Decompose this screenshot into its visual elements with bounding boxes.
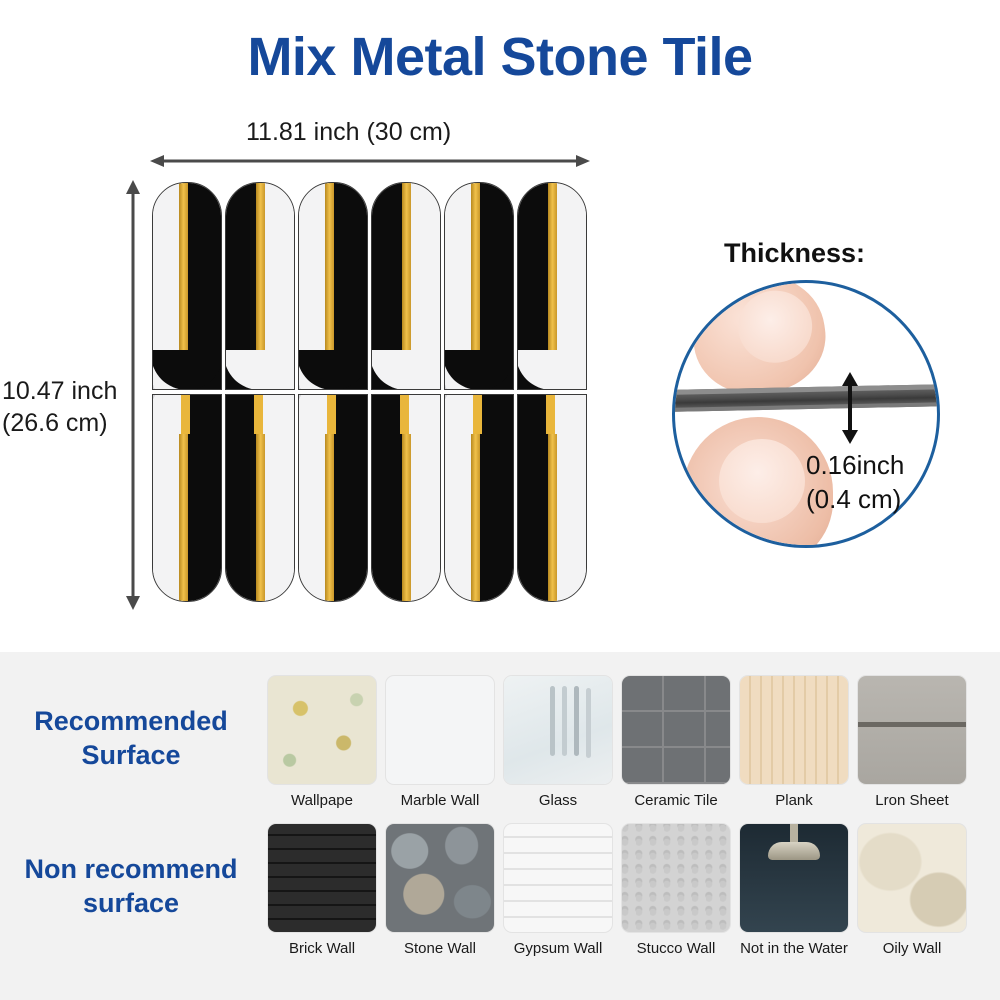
surface-item[interactable]: Marble Wall xyxy=(384,676,496,809)
width-dimension-label: 11.81 inch (30 cm) xyxy=(246,118,451,147)
surface-caption: Brick Wall xyxy=(266,940,378,957)
tile-segment xyxy=(444,394,514,602)
surface-caption: Stucco Wall xyxy=(620,940,732,957)
marble-wall-swatch-icon xyxy=(386,676,494,784)
non-recommended-surface-row: Brick Wall Stone Wall Gypsum Wall Stucco… xyxy=(266,824,974,957)
tile-segment xyxy=(225,182,295,390)
non-recommended-label-line2: surface xyxy=(83,888,179,918)
surface-item[interactable]: Gypsum Wall xyxy=(502,824,614,957)
surface-recommendation-panel: Recommended Surface Wallpape Marble Wall… xyxy=(0,652,1000,1000)
finger-top xyxy=(685,280,832,402)
fingernail xyxy=(733,286,816,368)
recommended-label-line2: Surface xyxy=(81,740,180,770)
non-recommended-surface-label: Non recommend surface xyxy=(0,852,262,920)
surface-item[interactable]: Stucco Wall xyxy=(620,824,732,957)
surface-item[interactable]: Ceramic Tile xyxy=(620,676,732,809)
tile-segment xyxy=(371,182,441,390)
tile-column xyxy=(298,182,368,606)
tile-column xyxy=(152,182,222,606)
tile-column xyxy=(371,182,441,606)
tile-segment xyxy=(152,182,222,390)
non-recommended-label-line1: Non recommend xyxy=(24,854,237,884)
thickness-arrow xyxy=(840,372,860,444)
height-dimension-line1: 10.47 inch xyxy=(2,377,117,405)
height-dimension-arrow xyxy=(126,180,140,610)
surface-item[interactable]: Brick Wall xyxy=(266,824,378,957)
width-dimension-arrow xyxy=(150,155,590,167)
surface-caption: Oily Wall xyxy=(856,940,968,957)
tile-segment xyxy=(298,394,368,602)
tile-segment xyxy=(225,394,295,602)
surface-item[interactable]: Wallpape xyxy=(266,676,378,809)
stucco-wall-swatch-icon xyxy=(622,824,730,932)
recommended-label-line1: Recommended xyxy=(34,706,228,736)
tile-edge-cross-section xyxy=(672,384,940,412)
tile-column xyxy=(517,182,587,606)
recommended-surface-label: Recommended Surface xyxy=(0,704,262,772)
tile-segment xyxy=(517,394,587,602)
surface-caption: Marble Wall xyxy=(384,792,496,809)
thickness-value-line2: (0.4 cm) xyxy=(806,484,901,514)
plank-swatch-icon xyxy=(740,676,848,784)
surface-caption: Wallpape xyxy=(266,792,378,809)
thickness-value: 0.16inch (0.4 cm) xyxy=(806,448,956,516)
ceramic-tile-swatch-icon xyxy=(622,676,730,784)
tile-segment xyxy=(298,182,368,390)
wallpaper-swatch-icon xyxy=(268,676,376,784)
stone-wall-swatch-icon xyxy=(386,824,494,932)
thickness-label: Thickness: xyxy=(724,238,865,269)
surface-item[interactable]: Glass xyxy=(502,676,614,809)
surface-item[interactable]: Oily Wall xyxy=(856,824,968,957)
gypsum-wall-swatch-icon xyxy=(504,824,612,932)
glass-swatch-icon xyxy=(504,676,612,784)
surface-caption: Lron Sheet xyxy=(856,792,968,809)
thickness-value-line1: 0.16inch xyxy=(806,450,904,480)
tile-segment xyxy=(152,394,222,602)
shower-head-swatch-icon xyxy=(740,824,848,932)
surface-caption: Glass xyxy=(502,792,614,809)
recommended-surface-row: Wallpape Marble Wall Glass Ceramic Tile … xyxy=(266,676,974,809)
surface-caption: Not in the Water xyxy=(738,940,850,957)
tile-segment xyxy=(444,182,514,390)
tile-product-image xyxy=(152,182,590,606)
oily-wall-swatch-icon xyxy=(858,824,966,932)
surface-caption: Plank xyxy=(738,792,850,809)
surface-item[interactable]: Lron Sheet xyxy=(856,676,968,809)
fingernail xyxy=(719,439,805,523)
tile-column xyxy=(225,182,295,606)
surface-caption: Gypsum Wall xyxy=(502,940,614,957)
surface-item[interactable]: Not in the Water xyxy=(738,824,850,957)
page-title: Mix Metal Stone Tile xyxy=(0,26,1000,88)
surface-item[interactable]: Stone Wall xyxy=(384,824,496,957)
height-dimension-line2: (26.6 cm) xyxy=(2,409,108,437)
surface-caption: Stone Wall xyxy=(384,940,496,957)
tile-segment xyxy=(371,394,441,602)
surface-item[interactable]: Plank xyxy=(738,676,850,809)
iron-sheet-swatch-icon xyxy=(858,676,966,784)
surface-caption: Ceramic Tile xyxy=(620,792,732,809)
brick-wall-swatch-icon xyxy=(268,824,376,932)
tile-segment xyxy=(517,182,587,390)
tile-column xyxy=(444,182,514,606)
